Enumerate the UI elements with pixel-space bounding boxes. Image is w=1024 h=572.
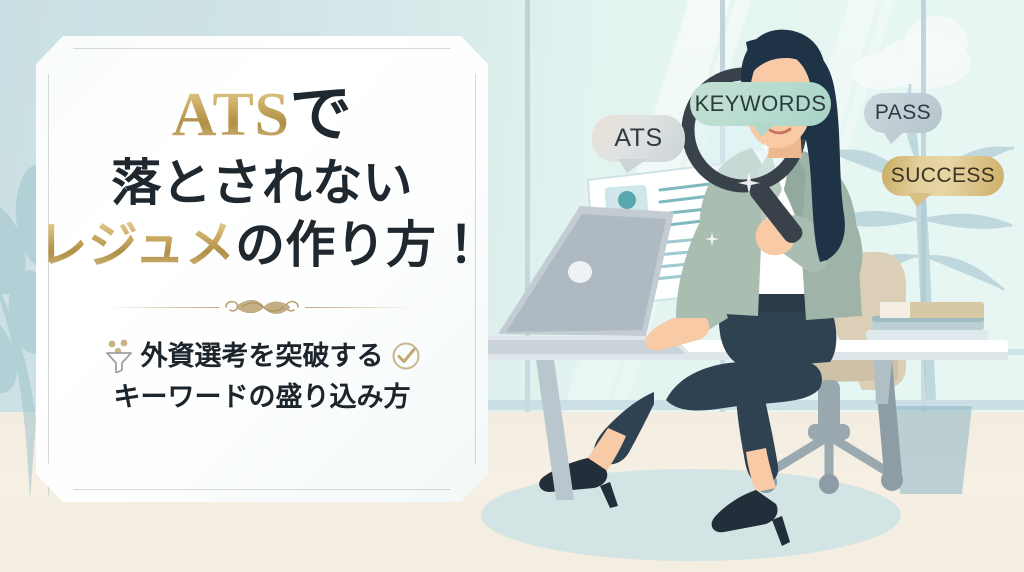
funnel-icon [104, 339, 134, 373]
speech-bubble-ats[interactable]: ATS [592, 115, 685, 162]
headline-resume: レジュメ [38, 217, 236, 273]
sparkle-icon [738, 172, 760, 194]
headline-tsukurikata: の作り方！ [235, 217, 486, 273]
subtitle-text-1: 外資選考を突破する [141, 336, 384, 377]
subtitle-block: 外資選考を突破する キーワードの盛り込み方 [36, 336, 488, 418]
subtitle-line-1: 外資選考を突破する [36, 336, 488, 377]
headline-panel: ATSで 落とされない レジュメの作り方！ [36, 36, 488, 502]
ornamental-divider [107, 296, 417, 318]
speech-bubble-keywords[interactable]: KEYWORDS [690, 82, 831, 126]
legs [539, 360, 822, 546]
check-circle-icon [391, 341, 421, 371]
subtitle-text-2: キーワードの盛り込み方 [114, 377, 411, 418]
headline-line-1: ATSで [36, 80, 488, 152]
speech-bubble-pass[interactable]: PASS [864, 93, 942, 133]
speech-bubble-success[interactable]: SUCCESS [882, 156, 1004, 196]
subtitle-line-2: キーワードの盛り込み方 [36, 377, 488, 418]
sparkle-icon [705, 232, 719, 246]
ornamental-flourish-divider [216, 296, 308, 318]
headline-ats: ATS [172, 81, 290, 149]
bubble-label: SUCCESS [891, 164, 995, 188]
headline-de: で [290, 81, 353, 149]
bubble-label: ATS [614, 124, 662, 153]
stacked-books [866, 302, 988, 340]
panel-content: ATSで 落とされない レジュメの作り方！ [36, 80, 488, 418]
bubble-label: KEYWORDS [695, 91, 827, 117]
bubble-label: PASS [875, 101, 931, 125]
banner-canvas: ATS KEYWORDS PASS SUCCESS ATSで 落とされない レジ… [0, 0, 1024, 572]
headline-line-3: レジュメの作り方！ [36, 216, 488, 274]
sparkle-icon [760, 142, 771, 153]
headline-line-2: 落とされない [36, 154, 488, 212]
